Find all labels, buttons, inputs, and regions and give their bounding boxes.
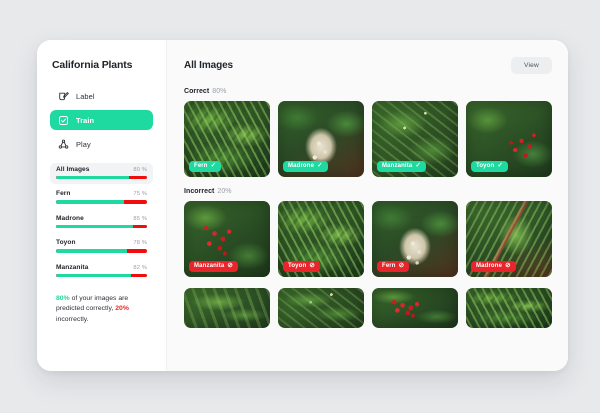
prediction-label: Manzanita — [194, 263, 224, 269]
check-icon: ✓ — [317, 163, 323, 170]
prediction-badge: Fern⊘ — [377, 261, 409, 273]
accuracy-progress-fill — [56, 176, 129, 179]
check-icon: ✓ — [497, 163, 503, 170]
prediction-badge: Madrone⊘ — [471, 261, 516, 273]
image-tile[interactable]: Madrone⊘ — [466, 201, 552, 277]
section-heading: Incorrect20% — [184, 188, 552, 195]
class-stat-name: Manzanita — [56, 264, 88, 271]
class-stat-row[interactable]: Madrone85 % — [50, 212, 153, 233]
main-header: All Images View — [184, 57, 552, 74]
class-accuracy-list: All Images80 %Fern75 %Madrone85 %Toyon78… — [50, 163, 153, 282]
prediction-badge: Manzanita✓ — [377, 161, 426, 173]
prediction-label: Madrone — [476, 263, 502, 269]
accuracy-progress-fill — [56, 249, 127, 252]
plant-photo — [466, 288, 552, 328]
network-nodes-icon — [58, 139, 69, 150]
accuracy-progress-fill — [56, 274, 131, 277]
sidebar-item-label[interactable]: Label — [50, 86, 153, 106]
image-tile[interactable]: Fern⊘ — [372, 201, 458, 277]
image-tile[interactable]: Fern✓ — [184, 101, 270, 177]
image-tile[interactable]: Madrone✓ — [278, 101, 364, 177]
image-grid: Manzanita⊘Toyon⊘Fern⊘Madrone⊘ — [184, 201, 552, 277]
prediction-label: Madrone — [288, 163, 314, 169]
no-entry-icon: ⊘ — [309, 263, 315, 270]
sidebar-nav: LabelTrainPlay — [50, 86, 153, 154]
no-entry-icon: ⊘ — [505, 263, 511, 270]
class-stat-header: Toyon78 % — [56, 239, 147, 246]
class-stat-name: Fern — [56, 190, 71, 197]
prediction-badge: Toyon✓ — [471, 161, 508, 173]
class-stat-name: All Images — [56, 166, 89, 173]
sidebar-item-label: Train — [76, 116, 94, 125]
section-heading-percent: 20% — [217, 188, 231, 195]
class-stat-percent: 85 % — [133, 216, 147, 222]
section-heading-text: Incorrect — [184, 188, 214, 195]
accuracy-progress-fill — [56, 200, 124, 203]
check-icon: ✓ — [415, 163, 421, 170]
class-stat-header: Fern75 % — [56, 190, 147, 197]
image-tile[interactable]: Manzanita✓ — [372, 101, 458, 177]
prediction-badge: Manzanita⊘ — [189, 261, 238, 273]
class-stat-name: Madrone — [56, 215, 84, 222]
summary-correct-pct: 80% — [56, 295, 70, 302]
no-entry-icon: ⊘ — [227, 263, 233, 270]
checkbox-icon — [58, 115, 69, 126]
image-tile[interactable] — [466, 288, 552, 328]
prediction-label: Fern — [194, 163, 208, 169]
prediction-label: Toyon — [288, 263, 306, 269]
prediction-label: Toyon — [476, 163, 494, 169]
image-tile[interactable] — [372, 288, 458, 328]
app-card: California Plants LabelTrainPlay All Ima… — [37, 40, 568, 371]
class-stat-header: Madrone85 % — [56, 215, 147, 222]
class-stat-name: Toyon — [56, 239, 76, 246]
sidebar-item-label: Play — [76, 140, 91, 149]
prediction-label: Manzanita — [382, 163, 412, 169]
main-title: All Images — [184, 57, 233, 71]
sidebar: California Plants LabelTrainPlay All Ima… — [37, 40, 166, 371]
class-stat-row[interactable]: All Images80 % — [50, 163, 153, 184]
image-grid-overflow — [184, 288, 552, 328]
class-stat-row[interactable]: Toyon78 % — [50, 236, 153, 257]
main-panel: All Images View Correct80%Fern✓Madrone✓M… — [166, 40, 568, 371]
class-stat-percent: 78 % — [133, 240, 147, 246]
view-button[interactable]: View — [511, 57, 552, 74]
image-tile[interactable]: Toyon⊘ — [278, 201, 364, 277]
prediction-badge: Fern✓ — [189, 161, 221, 173]
class-stat-percent: 75 % — [133, 191, 147, 197]
prediction-label: Fern — [382, 263, 396, 269]
class-stat-percent: 80 % — [133, 167, 147, 173]
accuracy-summary: 80% of your images are predicted correct… — [50, 294, 153, 326]
image-sections: Correct80%Fern✓Madrone✓Manzanita✓Toyon✓I… — [184, 88, 552, 328]
image-tile[interactable] — [184, 288, 270, 328]
plant-photo — [278, 288, 364, 328]
accuracy-progress-bar — [56, 274, 147, 277]
class-stat-percent: 82 % — [133, 265, 147, 271]
sidebar-item-play[interactable]: Play — [50, 134, 153, 154]
image-tile[interactable]: Manzanita⊘ — [184, 201, 270, 277]
accuracy-progress-bar — [56, 200, 147, 203]
prediction-badge: Toyon⊘ — [283, 261, 320, 273]
accuracy-progress-bar — [56, 249, 147, 252]
accuracy-progress-bar — [56, 176, 147, 179]
section-heading: Correct80% — [184, 88, 552, 95]
plant-photo — [184, 288, 270, 328]
accuracy-progress-bar — [56, 225, 147, 228]
class-stat-header: All Images80 % — [56, 166, 147, 173]
sidebar-item-label: Label — [76, 92, 95, 101]
section-heading-percent: 80% — [212, 88, 226, 95]
summary-incorrect-text: incorrectly. — [56, 316, 89, 323]
section-heading-text: Correct — [184, 88, 209, 95]
accuracy-progress-fill — [56, 225, 133, 228]
image-tile[interactable]: Toyon✓ — [466, 101, 552, 177]
image-grid: Fern✓Madrone✓Manzanita✓Toyon✓ — [184, 101, 552, 177]
no-entry-icon: ⊘ — [399, 263, 405, 270]
summary-incorrect-pct: 20% — [115, 305, 129, 312]
check-icon: ✓ — [211, 163, 217, 170]
label-tag-icon — [58, 91, 69, 102]
class-stat-row[interactable]: Manzanita82 % — [50, 261, 153, 282]
class-stat-row[interactable]: Fern75 % — [50, 187, 153, 208]
class-stat-header: Manzanita82 % — [56, 264, 147, 271]
sidebar-item-train[interactable]: Train — [50, 110, 153, 130]
image-tile[interactable] — [278, 288, 364, 328]
plant-photo — [372, 288, 458, 328]
prediction-badge: Madrone✓ — [283, 161, 328, 173]
page-title: California Plants — [50, 59, 153, 71]
